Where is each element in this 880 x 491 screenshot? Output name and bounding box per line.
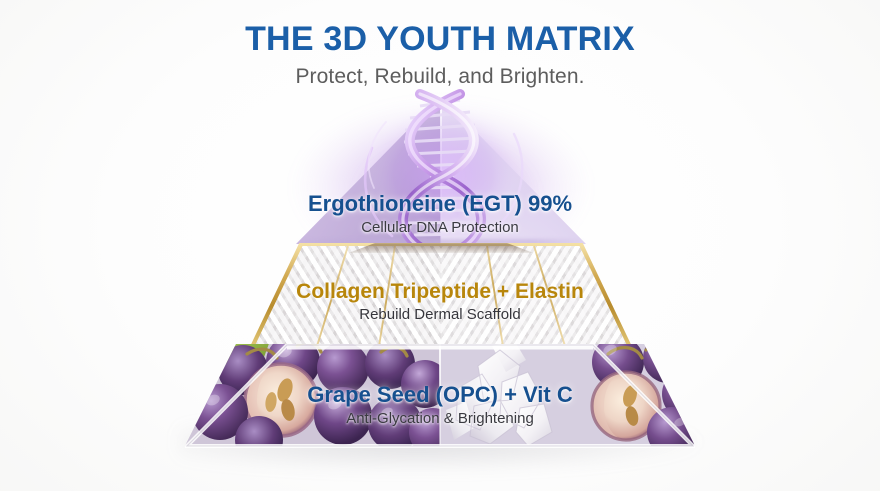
pyramid-tier-base[interactable] [185,344,695,448]
pyramid-tier-top[interactable] [296,96,586,246]
header-block: THE 3D YOUTH MATRIX Protect, Rebuild, an… [0,0,880,89]
grapes-icon [185,344,440,446]
base-center-edge [439,344,441,446]
page-subtitle: Protect, Rebuild, and Brighten. [0,58,880,89]
youth-matrix-infographic: THE 3D YOUTH MATRIX Protect, Rebuild, an… [0,0,880,491]
page-title: THE 3D YOUTH MATRIX [0,0,880,58]
vitamin-c-crystal-face [440,344,695,446]
vitamin-c-crystals-icon [440,344,695,446]
dna-helix-icon [348,88,538,258]
pyramid-tier-middle[interactable] [251,243,631,349]
gold-scaffold-frame [251,243,631,349]
grape-seed-face [185,344,440,446]
